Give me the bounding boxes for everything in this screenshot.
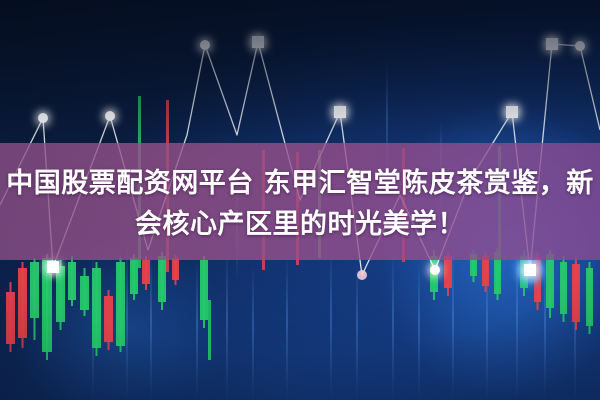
top-shadow-overlay — [0, 0, 600, 150]
page-title: 中国股票配资网平台 东甲汇智堂陈皮茶赏鉴，新 会核心产区里的时光美学！ — [0, 163, 600, 245]
banner-image: 中国股票配资网平台 东甲汇智堂陈皮茶赏鉴，新 会核心产区里的时光美学！ — [0, 0, 600, 400]
